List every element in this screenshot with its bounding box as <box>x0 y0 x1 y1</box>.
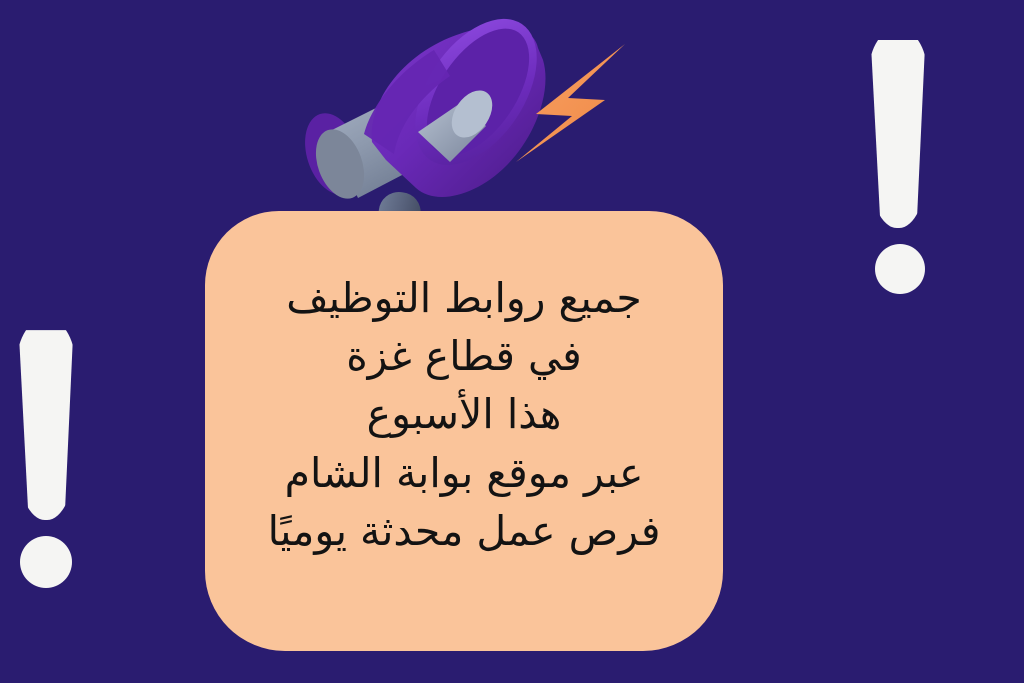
announcement-line-5: فرص عمل محدثة يوميًا <box>205 502 723 560</box>
announcement-text-block: جميع روابط التوظيف في قطاع غزة هذا الأسب… <box>205 269 723 560</box>
announcement-line-2: في قطاع غزة <box>205 327 723 385</box>
exclamation-dot <box>875 244 925 294</box>
exclamation-stem <box>17 318 75 520</box>
announcement-line-1: جميع روابط التوظيف <box>205 269 723 327</box>
exclamation-mark-right-icon <box>866 28 930 296</box>
exclamation-dot <box>20 536 72 588</box>
exclamation-stem <box>869 28 927 228</box>
exclamation-mark-left-icon <box>14 318 78 590</box>
announcement-line-3: هذا الأسبوع <box>205 385 723 443</box>
announcement-card: جميع روابط التوظيف في قطاع غزة هذا الأسب… <box>205 211 723 651</box>
announcement-line-4: عبر موقع بوابة الشام <box>205 444 723 502</box>
announcement-poster: جميع روابط التوظيف في قطاع غزة هذا الأسب… <box>0 0 1024 683</box>
